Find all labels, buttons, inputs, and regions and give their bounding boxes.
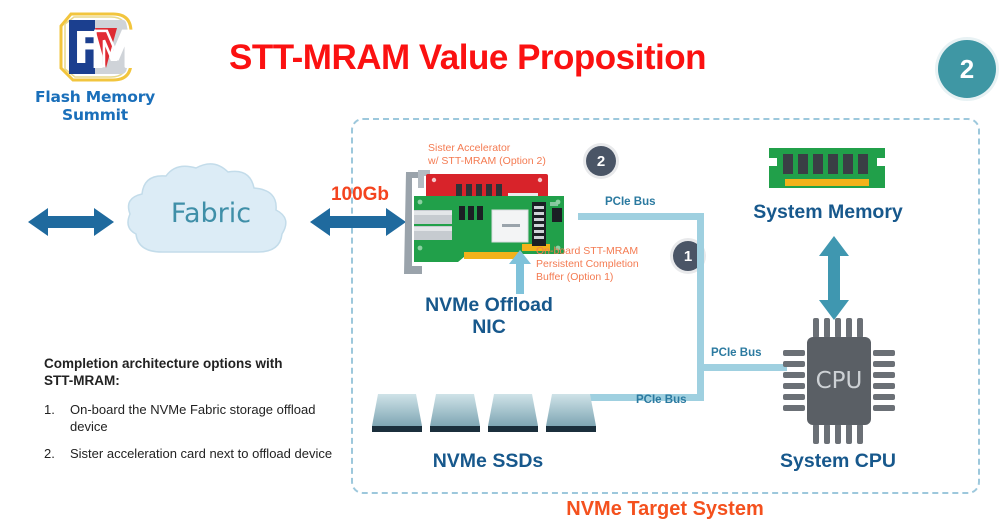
nvme-target-system-label: NVMe Target System (430, 498, 900, 521)
fabric-label: Fabric (118, 198, 304, 229)
sister-note-line2: w/ STT-MRAM (Option 2) (428, 155, 608, 168)
nvme-ssds-label: NVMe SSDs (380, 450, 596, 473)
list-item-text: On-board the NVMe Fabric storage offload… (70, 402, 354, 435)
system-cpu-icon: CPU (783, 318, 895, 444)
page-title: STT-MRAM Value Proposition (195, 38, 740, 78)
pcie-bus-segment-nic (578, 213, 704, 220)
notes-heading-line2: STT-MRAM: (44, 373, 120, 388)
pcie-bus-label-bottom: PCIe Bus (636, 394, 687, 406)
sister-accelerator-annotation: Sister Accelerator w/ STT-MRAM (Option 2… (428, 142, 608, 168)
memory-cpu-double-arrow-icon (818, 236, 850, 320)
onboard-note-line2: Persistent Completion (536, 258, 686, 271)
system-memory-dimm-icon (767, 146, 887, 190)
fms-logo-mark: F M M (51, 6, 141, 88)
nic-label-line2: NIC (472, 316, 506, 338)
pcie-bus-label-top: PCIe Bus (605, 196, 656, 208)
pcie-bus-segment-cpu (697, 364, 787, 371)
list-item: 2. Sister acceleration card next to offl… (44, 446, 354, 463)
onboard-buffer-annotation: On-board STT-MRAM Persistent Completion … (536, 245, 686, 284)
onboard-buffer-up-arrow-icon (509, 250, 531, 294)
slide-number-badge: 2 (938, 40, 996, 98)
nvme-ssds-icon (372, 390, 604, 442)
pcie-bus-label-middle: PCIe Bus (711, 347, 762, 359)
fabric-right-arrow-icon (310, 205, 406, 239)
cpu-chip-text: CPU (816, 368, 863, 394)
nic-label: NVMe Offload NIC (398, 294, 580, 338)
fms-logo-wordmark: Flash Memory Summit (6, 88, 184, 124)
system-memory-label: System Memory (740, 201, 916, 224)
notes-heading: Completion architecture options with STT… (44, 355, 354, 389)
pcie-bus-trunk (697, 213, 704, 401)
list-item-number: 2. (44, 446, 70, 463)
link-speed-label: 100Gb (316, 184, 404, 206)
list-item-text: Sister acceleration card next to offload… (70, 446, 354, 463)
flash-memory-summit-logo: F M M Flash Memory Summit (6, 4, 184, 112)
completion-options-notes: Completion architecture options with STT… (44, 355, 354, 474)
list-item-number: 1. (44, 402, 70, 435)
system-cpu-label: System CPU (750, 450, 926, 473)
fabric-left-arrow-icon (28, 205, 114, 239)
notes-heading-line1: Completion architecture options with (44, 356, 283, 371)
onboard-note-line3: Buffer (Option 1) (536, 271, 686, 284)
onboard-note-line1: On-board STT-MRAM (536, 245, 686, 258)
nic-label-line1: NVMe Offload (425, 294, 553, 316)
list-item: 1. On-board the NVMe Fabric storage offl… (44, 402, 354, 435)
svg-text:M: M (91, 22, 139, 78)
sister-note-line1: Sister Accelerator (428, 142, 608, 155)
option-2-badge: 2 (586, 146, 616, 176)
slide-canvas: F M M Flash Memory Summit STT-MRAM Value… (0, 0, 1003, 528)
